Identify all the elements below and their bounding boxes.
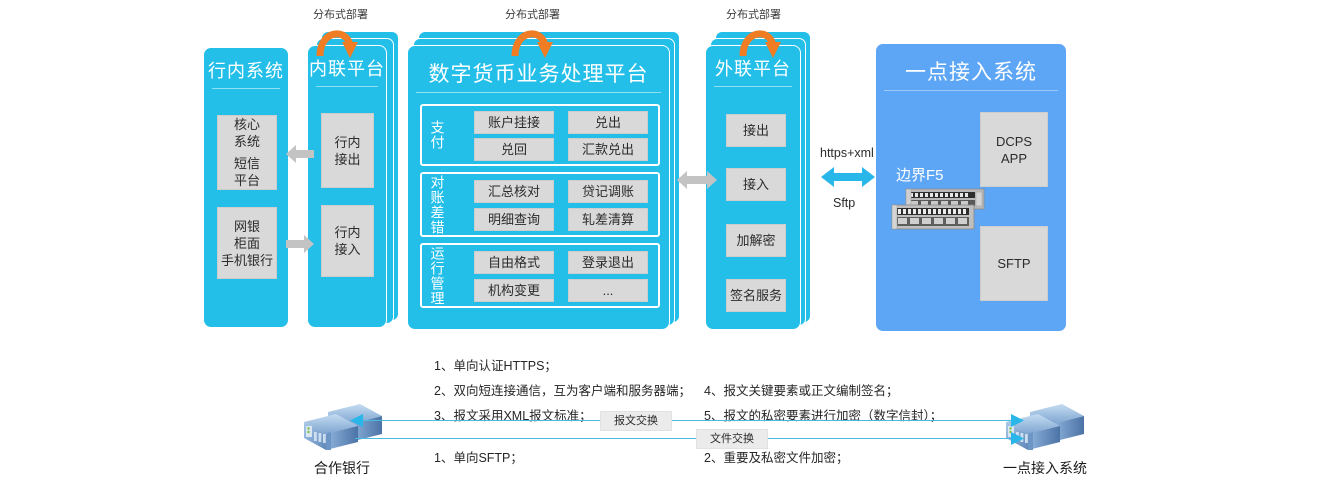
group-payment[interactable]: 支付 账户挂接 兑出 兑回 汇款兑出 <box>420 104 660 166</box>
f5-appliance-icon <box>888 187 988 235</box>
box-core-sms[interactable]: 核心 系统 短信 平台 <box>217 115 277 190</box>
box-login-logout[interactable]: 登录退出 <box>568 251 648 274</box>
box-ebank-line1: 网银 <box>234 218 260 235</box>
panel-intranet-platform[interactable]: 内联平台 行内 接出 行内 接入 <box>307 45 387 328</box>
deploy-label-intranet: 分布式部署 <box>313 6 368 22</box>
deploy-label-dcep: 分布式部署 <box>505 6 560 22</box>
box-exchange-out[interactable]: 兑出 <box>568 111 648 134</box>
box-org-change[interactable]: 机构变更 <box>474 279 554 302</box>
box-more[interactable]: ... <box>568 279 648 302</box>
panel-intrabank-system[interactable]: 行内系统 核心 系统 短信 平台 网银 柜面 手机银行 <box>203 47 289 328</box>
deploy-arc-dcep-icon <box>505 22 559 58</box>
note-left-2: 2、双向短连接通信，互为客户端和服务器端； <box>434 380 691 399</box>
box-core-sms-line5: 平台 <box>234 172 260 189</box>
box-dcps-app-line1: DCPS <box>996 133 1032 150</box>
note-bottom-right-2: 2、重要及私密文件加密； <box>704 447 848 466</box>
note-left-1: 1、单向认证HTTPS； <box>434 355 557 374</box>
box-intrabank-out-line2: 接出 <box>334 151 360 168</box>
panel-intrabank-title: 行内系统 <box>204 48 288 88</box>
note-right-4: 4、报文关键要素或正文编制签名； <box>704 380 898 399</box>
arrow-dcep-external-bidirectional-icon <box>677 171 717 189</box>
panel-external-platform[interactable]: 外联平台 接出 接入 加解密 签名服务 <box>705 45 801 330</box>
note-right-5: 5、报文的私密要素进行加密（数字信封）； <box>704 405 942 424</box>
box-dcps-app[interactable]: DCPS APP <box>980 112 1048 187</box>
deploy-label-external: 分布式部署 <box>726 6 781 22</box>
box-ebank-counter-mobile[interactable]: 网银 柜面 手机银行 <box>217 207 277 279</box>
box-external-out[interactable]: 接出 <box>726 114 786 147</box>
server-left-caption: 合作银行 <box>297 458 387 478</box>
panel-access-title: 一点接入系统 <box>876 44 1066 90</box>
group-reconciliation-label: 对账差错 <box>428 174 446 235</box>
box-intrabank-out-line1: 行内 <box>334 134 360 151</box>
exchange-tag-message: 报文交换 <box>600 411 672 431</box>
box-ebank-line2: 柜面 <box>234 235 260 252</box>
box-external-in[interactable]: 接入 <box>726 168 786 201</box>
f5-label: 边界F5 <box>896 164 944 185</box>
flow-arrow-file-right-icon <box>1011 432 1025 445</box>
group-operations-label: 运行管理 <box>428 245 446 306</box>
arrow-external-to-access-bidirectional-icon <box>821 166 875 188</box>
box-free-format[interactable]: 自由格式 <box>474 251 554 274</box>
note-bottom-left-1: 1、单向SFTP； <box>434 447 523 466</box>
box-intrabank-out[interactable]: 行内 接出 <box>321 113 374 188</box>
arrow-ebank-to-intrabank-in-icon <box>286 235 314 253</box>
box-core-sms-line1: 核心 <box>234 116 260 133</box>
box-dcps-app-line2: APP <box>1001 150 1027 167</box>
flow-line-message <box>355 420 1018 421</box>
box-core-sms-line2: 系统 <box>234 133 260 150</box>
arrow-intrabank-out-to-core-icon <box>286 145 314 163</box>
note-left-3: 3、报文采用XML报文标准； <box>434 405 592 424</box>
panel-dcep-divider <box>416 92 661 93</box>
box-intrabank-in[interactable]: 行内 接入 <box>321 205 374 277</box>
box-intrabank-in-line2: 接入 <box>334 241 360 258</box>
panel-intranet-divider <box>316 86 378 87</box>
panel-access-system[interactable]: 一点接入系统 边界F5 <box>875 43 1067 332</box>
box-exchange-back[interactable]: 兑回 <box>474 138 554 161</box>
box-sftp[interactable]: SFTP <box>980 226 1048 301</box>
box-encrypt-decrypt[interactable]: 加解密 <box>726 224 786 257</box>
box-remittance-out[interactable]: 汇款兑出 <box>568 138 648 161</box>
box-core-sms-line4: 短信 <box>234 155 260 172</box>
link-label-sftp: Sftp <box>833 196 855 210</box>
flow-arrow-message-right-icon <box>1011 414 1025 427</box>
group-reconciliation[interactable]: 对账差错 汇总核对 贷记调账 明细查询 轧差清算 <box>420 172 660 237</box>
deploy-arc-intranet-icon <box>310 22 364 58</box>
box-intrabank-in-line1: 行内 <box>334 224 360 241</box>
exchange-tag-file: 文件交换 <box>696 429 768 449</box>
server-left-icon <box>298 400 386 452</box>
panel-dcep-platform[interactable]: 数字货币业务处理平台 支付 账户挂接 兑出 兑回 汇款兑出 对账差错 汇总核对 … <box>407 45 670 330</box>
box-netting-settlement[interactable]: 轧差清算 <box>568 208 648 231</box>
box-summary-check[interactable]: 汇总核对 <box>474 180 554 203</box>
box-signature-service[interactable]: 签名服务 <box>726 279 786 312</box>
box-account-link[interactable]: 账户挂接 <box>474 111 554 134</box>
flow-line-file <box>355 438 1018 439</box>
flow-arrow-message-left-icon <box>349 414 363 427</box>
server-right-caption: 一点接入系统 <box>992 458 1098 478</box>
box-ebank-line3: 手机银行 <box>221 252 273 269</box>
deploy-arc-external-icon <box>733 22 787 58</box>
panel-intrabank-divider <box>212 88 280 89</box>
link-label-https-xml: https+xml <box>820 146 874 160</box>
panel-access-divider <box>884 90 1058 91</box>
box-detail-query[interactable]: 明细查询 <box>474 208 554 231</box>
panel-external-divider <box>714 86 792 87</box>
box-credit-adjust[interactable]: 贷记调账 <box>568 180 648 203</box>
group-payment-label: 支付 <box>428 106 446 164</box>
group-operations[interactable]: 运行管理 自由格式 登录退出 机构变更 ... <box>420 243 660 308</box>
